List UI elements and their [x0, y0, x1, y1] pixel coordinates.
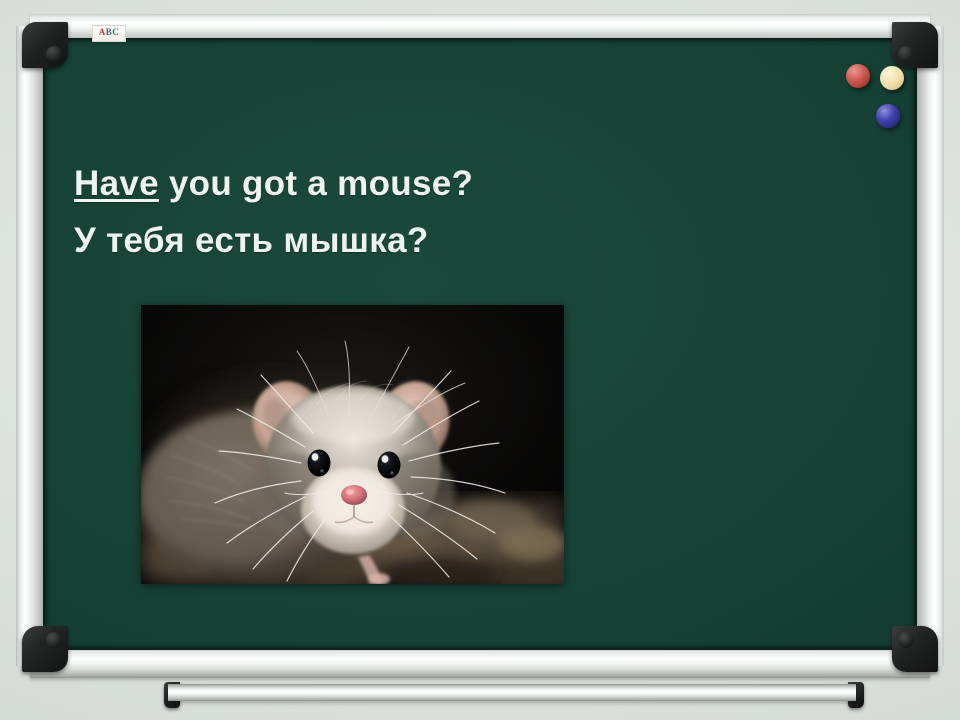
- abc-letter-a: A: [99, 27, 106, 37]
- magnet-cream: [880, 66, 904, 90]
- chalk-tray: [168, 684, 856, 701]
- corner-bracket-top-right: [892, 22, 938, 68]
- mouse-photograph: [141, 305, 564, 584]
- english-question-rest: you got a mouse?: [159, 164, 473, 203]
- frame-rail-right: [914, 26, 944, 666]
- mouse-photo-artwork: [141, 305, 564, 584]
- corner-bracket-bottom-left: [22, 626, 68, 672]
- english-emphasis-word: Have: [74, 164, 159, 203]
- abc-sticker: ABC: [92, 25, 126, 42]
- abc-letter-c: C: [112, 27, 119, 37]
- frame-rail-left: [16, 26, 46, 666]
- magnet-blue: [876, 104, 900, 128]
- english-question-line: Have you got a mouse?: [74, 166, 774, 201]
- corner-bracket-bottom-right: [892, 626, 938, 672]
- russian-translation-line: У тебя есть мышка?: [74, 223, 774, 258]
- magnet-red: [846, 64, 870, 88]
- slide-canvas: ABC Have you got a mouse? У тебя есть мы…: [0, 0, 960, 720]
- lesson-text-block: Have you got a mouse? У тебя есть мышка?: [74, 166, 774, 258]
- corner-bracket-top-left: [22, 22, 68, 68]
- chalkboard: ABC Have you got a mouse? У тебя есть мы…: [8, 8, 952, 680]
